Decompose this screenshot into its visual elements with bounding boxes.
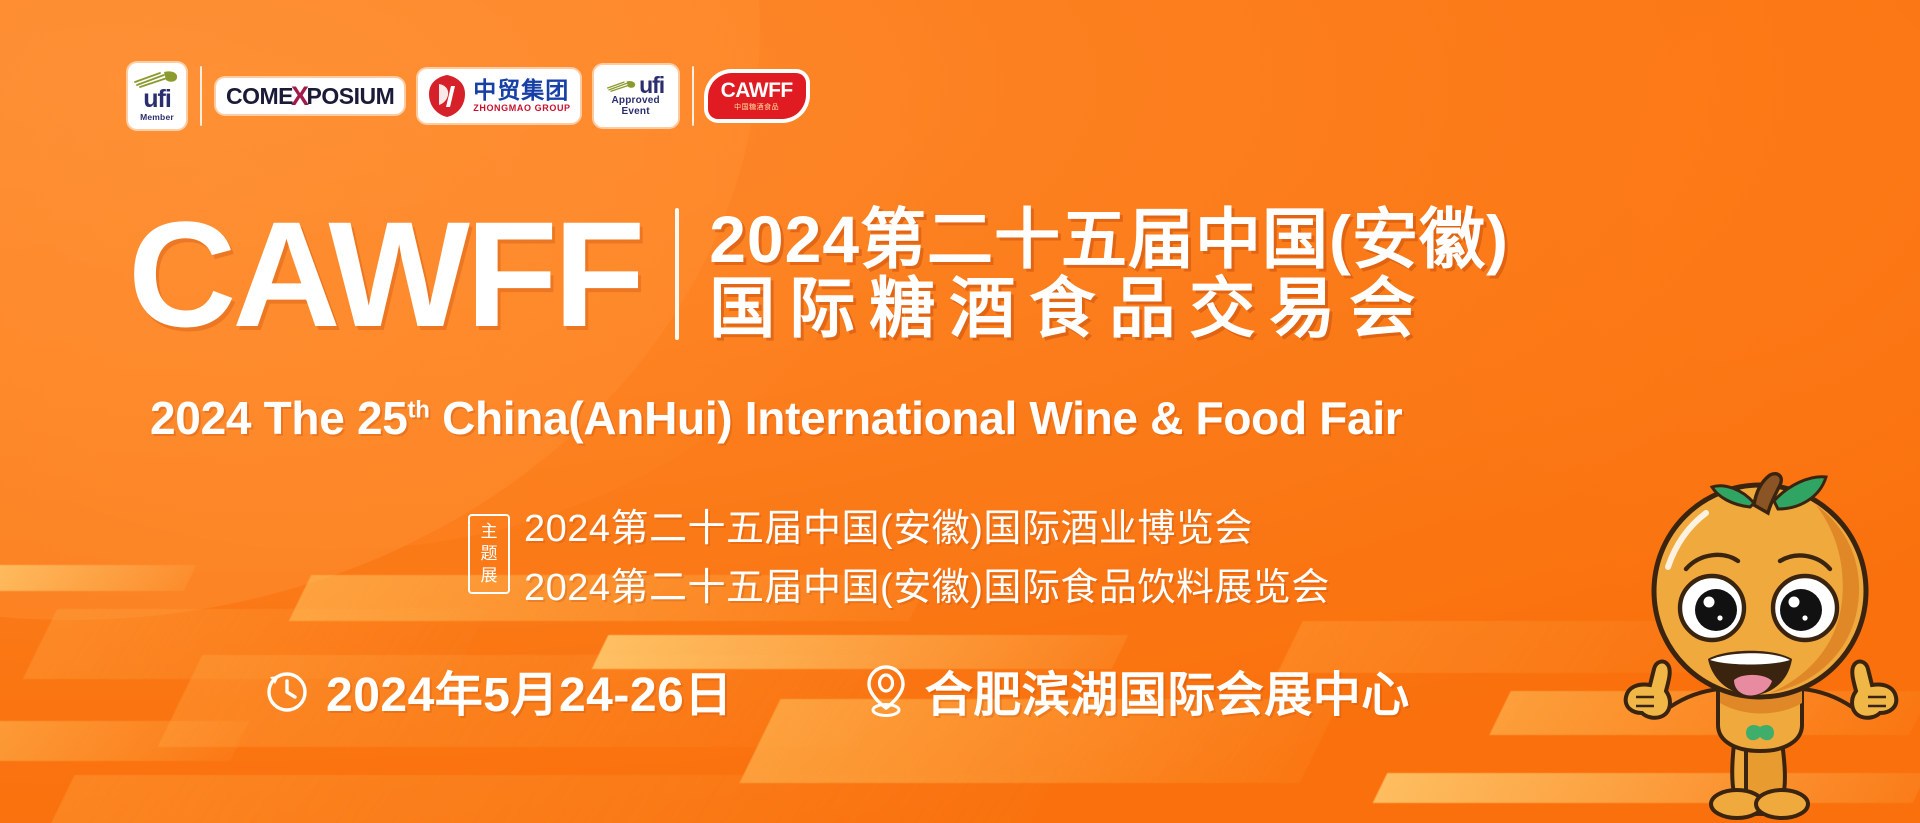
clock-icon	[262, 665, 312, 715]
ufi-wing-icon	[607, 78, 637, 94]
comexposium-text-right: POSIUM	[307, 83, 395, 110]
logo-ufi-approved-sub: Approved Event	[612, 96, 660, 117]
logo-divider	[200, 66, 202, 126]
event-info-row: 2024年5月24-26日 合肥滨湖国际会展中心	[262, 655, 1410, 725]
theme-tag-char-1: 主	[481, 522, 498, 542]
logo-cawff-badge[interactable]: CAWFF 中国糖酒食品	[708, 73, 806, 119]
english-subtitle-post: China(AnHui) International Wine & Food F…	[430, 392, 1403, 444]
logo-divider	[692, 66, 694, 126]
event-banner: ufi Member COME X POSIUM 中贸集团 ZHONGMAO G…	[0, 0, 1920, 823]
event-date-item: 2024年5月24-26日	[262, 655, 733, 725]
brand-wordmark: CAWFF	[128, 205, 641, 343]
chinese-title-line1: 2024第二十五届中国(安徽)	[709, 205, 1509, 274]
logo-zhongmao-group[interactable]: 中贸集团 ZHONGMAO GROUP	[418, 69, 579, 123]
main-title-row: CAWFF 2024第二十五届中国(安徽) 国际糖酒食品交易会	[128, 205, 1509, 343]
english-subtitle-ordinal: th	[408, 397, 430, 424]
chinese-title: 2024第二十五届中国(安徽) 国际糖酒食品交易会	[709, 205, 1509, 342]
english-subtitle: 2024 The 25th China(AnHui) International…	[150, 391, 1820, 445]
cawff-badge-sub: 中国糖酒食品	[734, 102, 779, 112]
orange-mascot	[1620, 463, 1916, 823]
logo-comexposium[interactable]: COME X POSIUM	[216, 78, 404, 114]
logo-ufi-word: ufi	[143, 88, 171, 112]
theme-line-1: 2024第二十五届中国(安徽)国际酒业博览会	[524, 497, 1330, 552]
event-venue: 合肥滨湖国际会展中心	[925, 655, 1410, 725]
chinese-title-line2: 国际糖酒食品交易会	[709, 274, 1509, 343]
comexposium-text-left: COME	[226, 83, 293, 110]
theme-tag-char-3: 展	[481, 566, 498, 586]
theme-line-2: 2024第二十五届中国(安徽)国际食品饮料展览会	[524, 556, 1330, 611]
zhongmao-cn-name: 中贸集团	[473, 79, 570, 102]
theme-exhibition-block: 主 题 展 2024第二十五届中国(安徽)国际酒业博览会 2024第二十五届中国…	[468, 497, 1330, 611]
zhongmao-en-name: ZHONGMAO GROUP	[473, 104, 570, 113]
logo-ufi-member-sub: Member	[140, 112, 174, 122]
partner-logo-strip: ufi Member COME X POSIUM 中贸集团 ZHONGMAO G…	[128, 62, 806, 130]
cawff-badge-main: CAWFF	[721, 80, 793, 101]
zhongmao-mark-icon	[427, 74, 467, 118]
logo-ufi-approved-event[interactable]: ufi Approved Event	[594, 65, 678, 127]
logo-ufi-word: ufi	[639, 75, 664, 97]
logo-ufi-member[interactable]: ufi Member	[128, 63, 186, 129]
event-date: 2024年5月24-26日	[326, 655, 733, 725]
theme-tag-char-2: 题	[481, 544, 498, 564]
theme-tag: 主 题 展	[468, 514, 510, 594]
event-venue-item: 合肥滨湖国际会展中心	[861, 655, 1410, 725]
english-subtitle-pre: 2024 The 25	[150, 392, 408, 444]
title-divider	[675, 208, 679, 340]
location-pin-icon	[861, 663, 911, 717]
